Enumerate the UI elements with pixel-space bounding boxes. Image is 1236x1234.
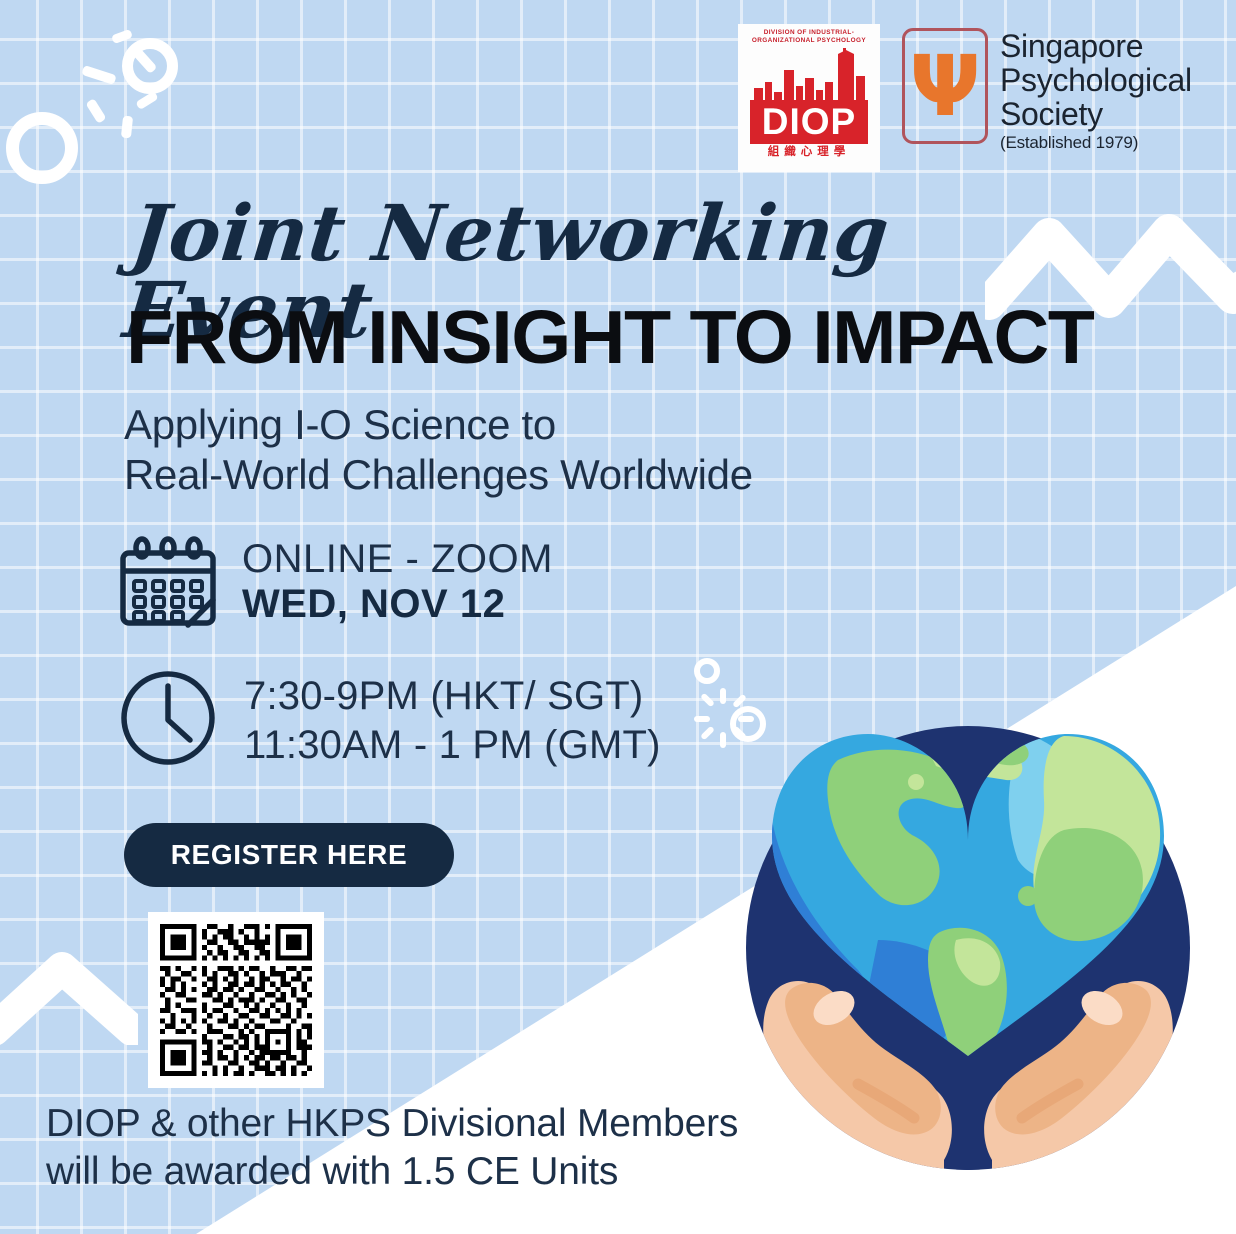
chevron-bottom-left-icon	[0, 950, 138, 1045]
ring-small-top-left-icon	[122, 38, 178, 94]
qr-code[interactable]	[148, 912, 324, 1088]
sps-established: (Established 1979)	[1000, 133, 1192, 153]
event-poster: DIVISION OF INDUSTRIAL- ORGANIZATIONAL P…	[0, 0, 1236, 1234]
event-date: WED, NOV 12	[242, 582, 553, 627]
ring-large-top-left-icon	[6, 112, 78, 184]
qr-code-icon[interactable]	[160, 924, 312, 1076]
psi-symbol-frame: Ψ	[902, 28, 988, 144]
subtitle: Applying I-O Science to Real-World Chall…	[124, 400, 884, 499]
event-location: ONLINE - ZOOM	[242, 537, 553, 582]
diop-skyline-mark: DIOP	[750, 48, 868, 144]
diop-chinese-text: 組織心理學	[768, 147, 851, 159]
psi-icon: Ψ	[909, 52, 980, 121]
logo-row: DIVISION OF INDUSTRIAL- ORGANIZATIONAL P…	[738, 24, 1192, 172]
time-info-row: 7:30-9PM (HKT/ SGT) 11:30AM - 1 PM (GMT)	[118, 668, 661, 770]
singapore-psychological-society-logo: Ψ Singapore Psychological Society (Estab…	[902, 24, 1192, 153]
ring-small-mid-right-icon	[694, 658, 720, 684]
register-here-button[interactable]: REGISTER HERE	[124, 823, 454, 887]
sparkle-top-left-icon	[60, 28, 190, 158]
calendar-icon	[120, 533, 216, 633]
diop-division-text: DIVISION OF INDUSTRIAL- ORGANIZATIONAL P…	[745, 29, 873, 46]
page-title: FROM INSIGHT TO IMPACT	[126, 300, 1166, 375]
diop-wordmark: DIOP	[750, 103, 868, 140]
date-info-row: ONLINE - ZOOM WED, NOV 12	[120, 533, 553, 633]
clock-icon	[118, 668, 218, 768]
sps-name: Singapore Psychological Society	[1000, 30, 1192, 132]
hands-holding-heart-globe-illustration	[728, 690, 1208, 1170]
diop-logo: DIVISION OF INDUSTRIAL- ORGANIZATIONAL P…	[738, 24, 880, 172]
ce-units-note: DIOP & other HKPS Divisional Members wil…	[46, 1100, 776, 1195]
event-times: 7:30-9PM (HKT/ SGT) 11:30AM - 1 PM (GMT)	[244, 672, 661, 770]
